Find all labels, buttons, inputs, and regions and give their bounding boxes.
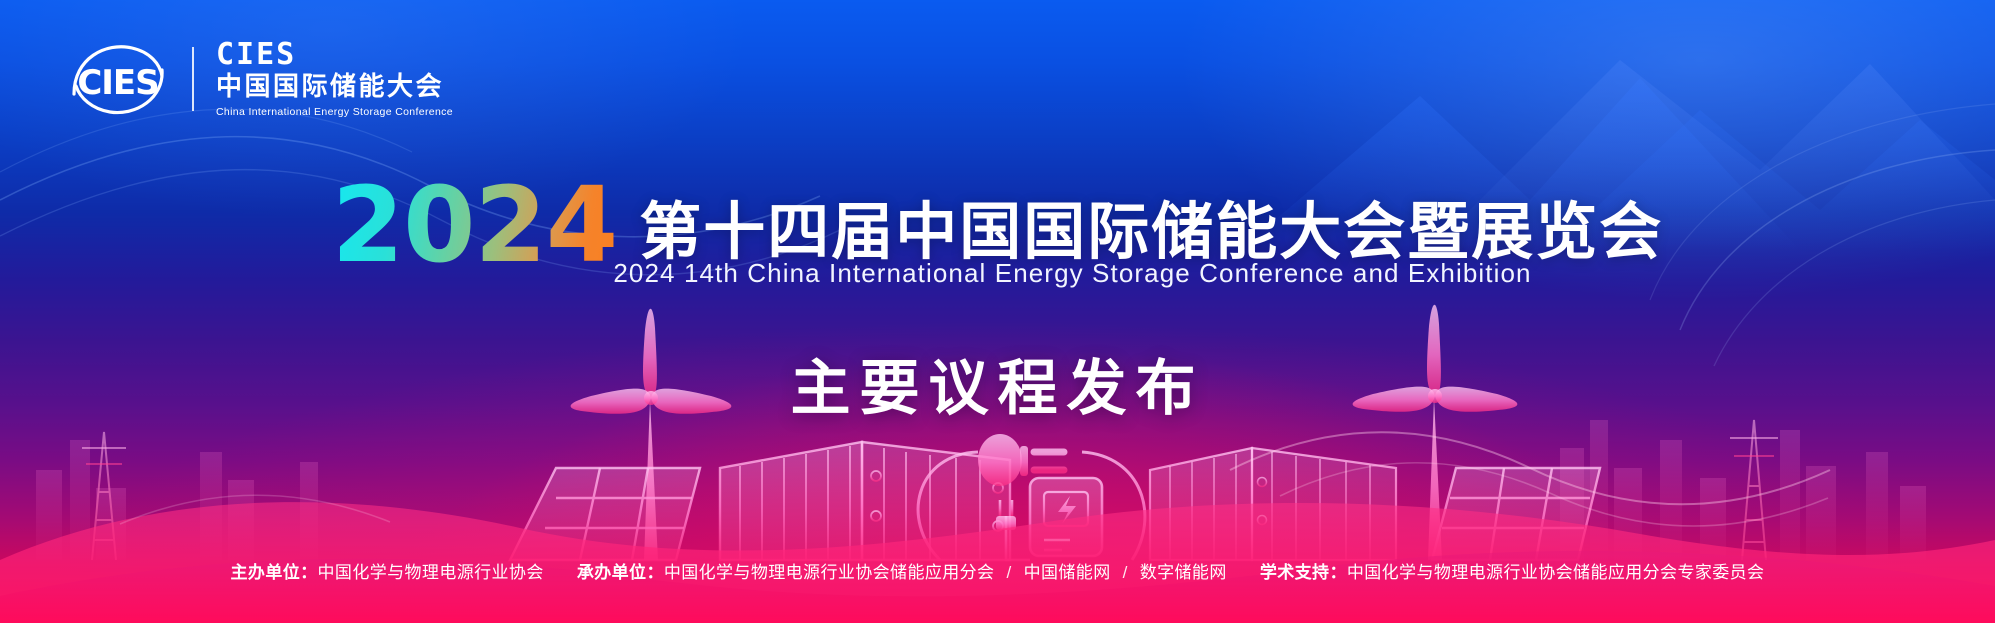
credit-host-label: 主办单位： — [231, 563, 318, 582]
credit-academic-label: 学术支持： — [1260, 563, 1347, 582]
cies-mark-text: CIES — [77, 63, 158, 103]
logo-divider — [192, 47, 194, 111]
city-skyline-left — [36, 440, 318, 560]
conference-title-en: 2024 14th China International Energy Sto… — [0, 258, 1995, 289]
logo-wordmark: CIES — [216, 40, 453, 71]
conference-banner: CIES CIES 中国国际储能大会 China International E… — [0, 0, 1995, 623]
logo-name-en: China International Energy Storage Confe… — [216, 106, 453, 118]
city-skyline-right — [1560, 420, 1926, 560]
transmission-tower-right — [1730, 420, 1778, 560]
solar-panel-left — [510, 468, 700, 560]
credit-host-value: 中国化学与物理电源行业协会 — [318, 563, 544, 582]
credit-organizer-value-3: 数字储能网 — [1140, 563, 1227, 582]
credit-organizer-label: 承办单位： — [577, 563, 664, 582]
logo-name-cn: 中国国际储能大会 — [216, 72, 453, 103]
charging-station-icon — [996, 478, 1102, 560]
headline-agenda-release: 主要议程发布 — [0, 340, 1995, 427]
conference-title-cn: 第十四届中国国际储能大会暨展览会 — [639, 200, 1663, 263]
credit-academic: 学术支持：中国化学与物理电源行业协会储能应用分会专家委员会 — [1260, 558, 1765, 583]
credit-separator-1: / — [994, 563, 1023, 583]
transmission-tower-left — [82, 432, 126, 560]
cies-logo-mark: CIES — [62, 36, 174, 122]
credit-separator-2: / — [1111, 563, 1140, 583]
year-2024: 2024 — [332, 182, 617, 269]
power-plug-icon — [918, 434, 1145, 560]
main-title-row: 2024 第十四届中国国际储能大会暨展览会 — [0, 176, 1995, 263]
credit-organizer-value-1: 中国化学与物理电源行业协会储能应用分会 — [664, 563, 995, 582]
cies-logo: CIES CIES 中国国际储能大会 China International E… — [62, 36, 453, 122]
solar-panel-right — [1432, 468, 1600, 560]
storage-container-right — [1150, 448, 1396, 560]
credit-host: 主办单位：中国化学与物理电源行业协会 — [231, 558, 544, 583]
credits-bar: 主办单位：中国化学与物理电源行业协会 承办单位：中国化学与物理电源行业协会储能应… — [0, 558, 1995, 583]
credit-academic-value: 中国化学与物理电源行业协会储能应用分会专家委员会 — [1347, 563, 1765, 582]
credit-organizer: 承办单位：中国化学与物理电源行业协会储能应用分会/中国储能网/数字储能网 — [577, 558, 1227, 583]
credit-organizer-value-2: 中国储能网 — [1024, 563, 1111, 582]
storage-container-left — [720, 442, 1010, 560]
